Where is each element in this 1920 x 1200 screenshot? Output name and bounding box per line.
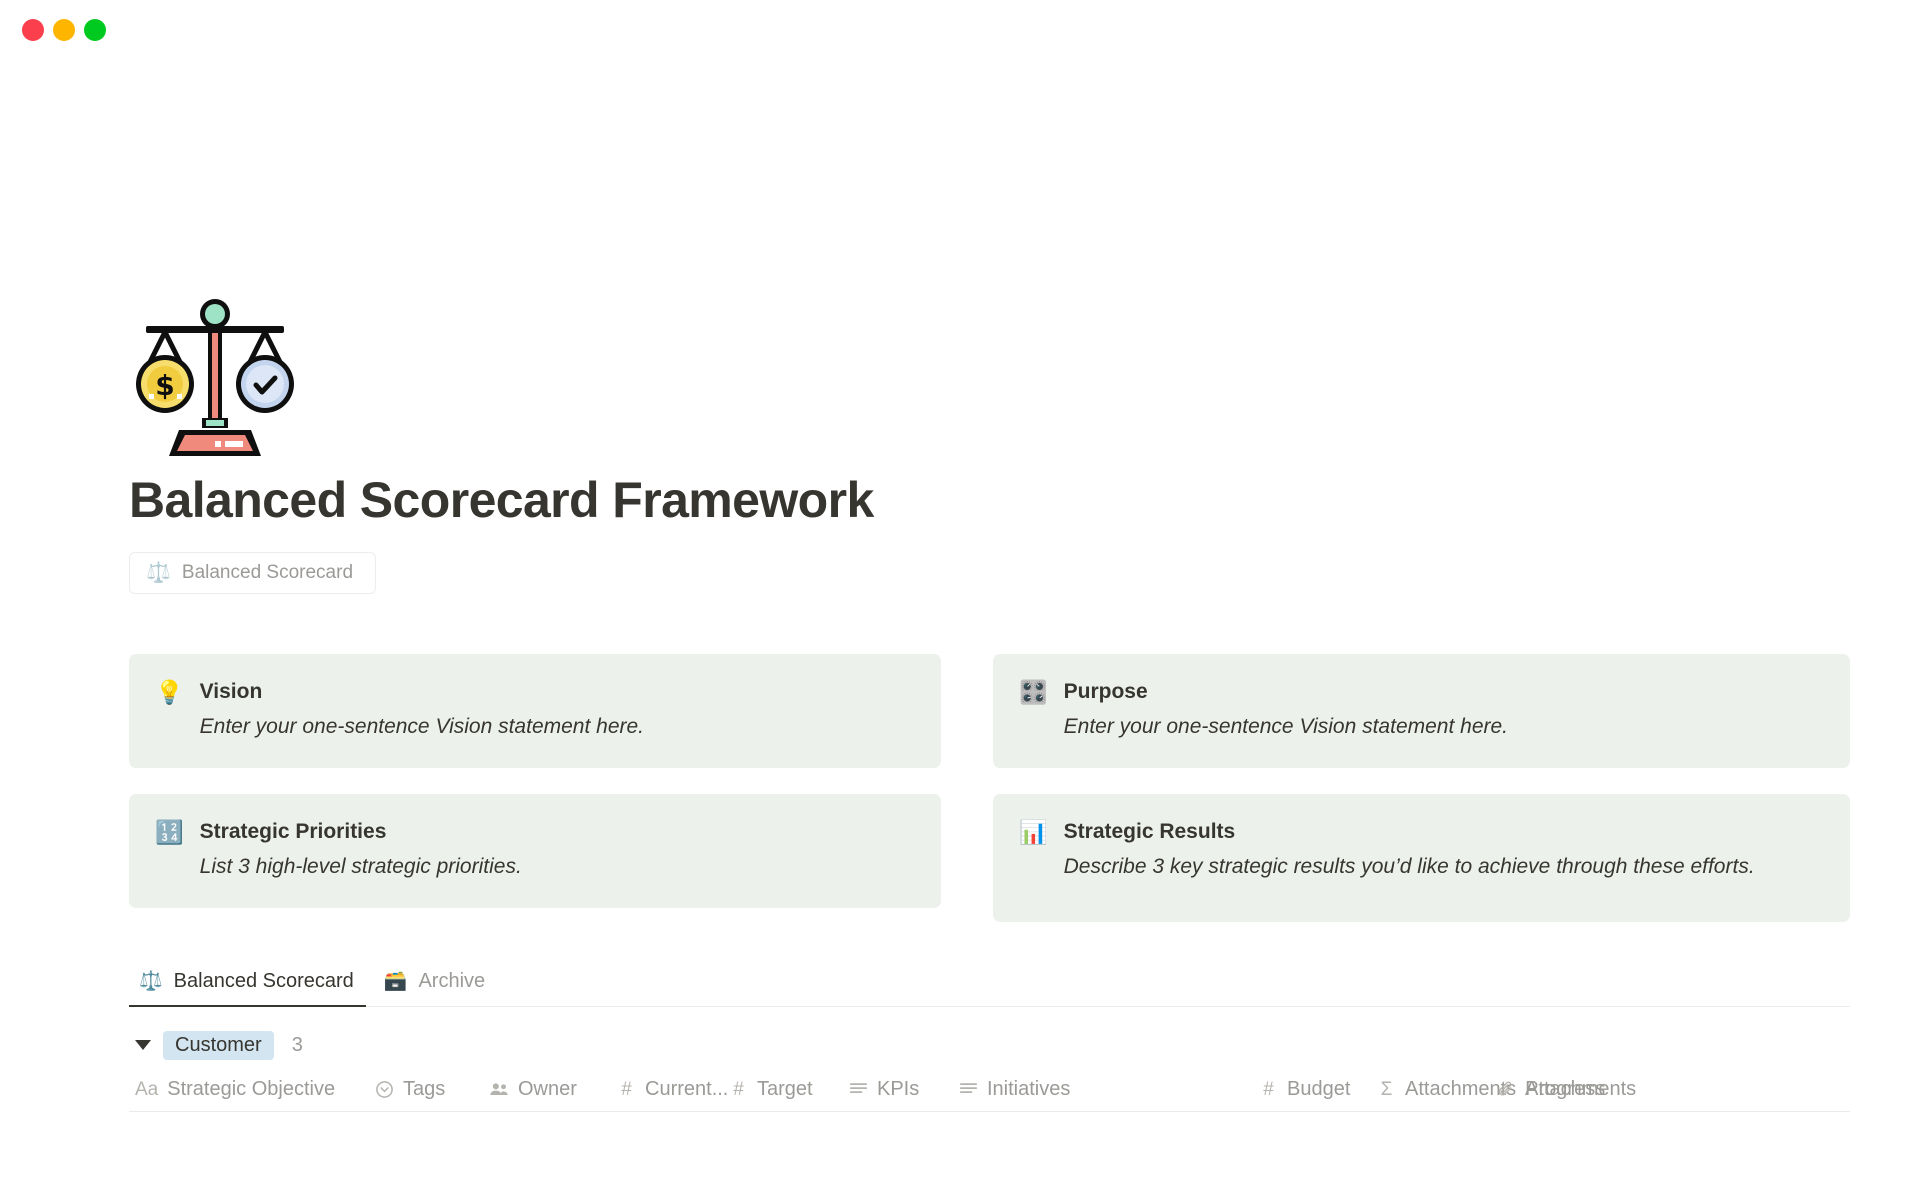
column-label-tags: Tags — [403, 1078, 445, 1101]
window-titlebar — [0, 0, 1920, 60]
paperclip-icon — [1497, 1080, 1516, 1098]
window-close-button[interactable] — [22, 19, 44, 41]
number-type-icon: # — [729, 1080, 748, 1099]
text-lines-icon — [959, 1081, 978, 1097]
column-header-tags[interactable]: Tags — [375, 1078, 489, 1101]
column-label-budget: Budget — [1287, 1078, 1350, 1101]
column-header-progress[interactable]: Σ Attachments Progress — [1377, 1078, 1497, 1101]
breadcrumb[interactable]: ⚖️ Balanced Scorecard — [129, 552, 376, 594]
callout-purpose[interactable]: 🎛️ Purpose Enter your one-sentence Visio… — [993, 654, 1850, 768]
column-header-initiatives[interactable]: Initiatives — [959, 1078, 1259, 1101]
column-label-strategic-objective: Strategic Objective — [167, 1078, 335, 1101]
database-tabbar: ⚖️ Balanced Scorecard 🗃️ Archive — [129, 964, 1850, 1007]
column-label-kpis: KPIs — [877, 1078, 919, 1101]
tab-balanced-scorecard[interactable]: ⚖️ Balanced Scorecard — [129, 964, 366, 1007]
column-header-target[interactable]: # Target — [729, 1078, 849, 1101]
column-header-current[interactable]: # Current... — [617, 1078, 729, 1101]
callout-vision[interactable]: 💡 Vision Enter your one-sentence Vision … — [129, 654, 941, 768]
text-lines-icon — [849, 1081, 868, 1097]
tab-archive[interactable]: 🗃️ Archive — [374, 964, 497, 1007]
tab-archive-label: Archive — [418, 970, 485, 993]
column-label-attachments: Attachments — [1525, 1078, 1636, 1101]
scales-icon: ⚖️ — [146, 563, 171, 583]
table-column-header-row: Aa Strategic Objective Tags Owner # Curr… — [129, 1078, 1850, 1112]
breadcrumb-label: Balanced Scorecard — [182, 562, 353, 584]
chart-results-icon: 📊 — [1019, 818, 1048, 896]
group-header-customer: Customer 3 — [129, 1031, 1850, 1060]
formula-type-icon: Σ — [1377, 1080, 1396, 1099]
callout-strategic-results[interactable]: 📊 Strategic Results Describe 3 key strat… — [993, 794, 1850, 922]
callout-purpose-text[interactable]: Enter your one-sentence Vision statement… — [1064, 712, 1824, 742]
svg-text:$: $ — [155, 369, 174, 402]
collapse-caret-icon[interactable] — [135, 1040, 151, 1050]
window-minimize-button[interactable] — [53, 19, 75, 41]
tab-balanced-scorecard-label: Balanced Scorecard — [174, 970, 354, 993]
archive-box-icon: 🗃️ — [384, 972, 408, 991]
callout-strategic-priorities-text[interactable]: List 3 high-level strategic priorities. — [200, 852, 915, 882]
person-type-icon — [489, 1080, 509, 1099]
callout-purpose-title: Purpose — [1064, 678, 1824, 705]
text-type-icon: Aa — [135, 1080, 158, 1099]
column-label-owner: Owner — [518, 1078, 577, 1101]
callout-vision-text[interactable]: Enter your one-sentence Vision statement… — [200, 712, 915, 742]
callout-strategic-priorities-title: Strategic Priorities — [200, 818, 915, 845]
group-count: 3 — [286, 1034, 303, 1057]
column-header-attachments[interactable]: Attachments — [1497, 1078, 1657, 1101]
column-header-budget[interactable]: # Budget — [1259, 1078, 1377, 1101]
control-knobs-icon: 🎛️ — [1019, 678, 1048, 742]
callout-vision-title: Vision — [200, 678, 915, 705]
balance-scale-illustration: $ — [129, 290, 301, 462]
callout-strategic-results-text[interactable]: Describe 3 key strategic results you’d l… — [1064, 852, 1824, 882]
ranked-list-icon: 🔢 — [155, 818, 184, 882]
column-label-target: Target — [757, 1078, 813, 1101]
column-label-current: Current... — [645, 1078, 728, 1101]
callout-strategic-results-title: Strategic Results — [1064, 818, 1824, 845]
column-header-kpis[interactable]: KPIs — [849, 1078, 959, 1101]
callout-strategic-priorities[interactable]: 🔢 Strategic Priorities List 3 high-level… — [129, 794, 941, 908]
select-type-icon — [375, 1080, 394, 1099]
window-maximize-button[interactable] — [84, 19, 106, 41]
column-header-strategic-objective[interactable]: Aa Strategic Objective — [129, 1078, 375, 1101]
column-label-initiatives: Initiatives — [987, 1078, 1070, 1101]
group-label-customer[interactable]: Customer — [163, 1031, 274, 1060]
number-type-icon: # — [1259, 1080, 1278, 1099]
scales-icon: ⚖️ — [139, 972, 163, 991]
callout-grid: 💡 Vision Enter your one-sentence Vision … — [129, 654, 1850, 922]
number-type-icon: # — [617, 1080, 636, 1099]
lightbulb-icon: 💡 — [155, 678, 184, 742]
column-header-owner[interactable]: Owner — [489, 1078, 617, 1101]
page-title: Balanced Scorecard Framework — [129, 472, 1850, 530]
page-root: $ Balanced Scorecard Framework ⚖️ — [0, 290, 1920, 1112]
